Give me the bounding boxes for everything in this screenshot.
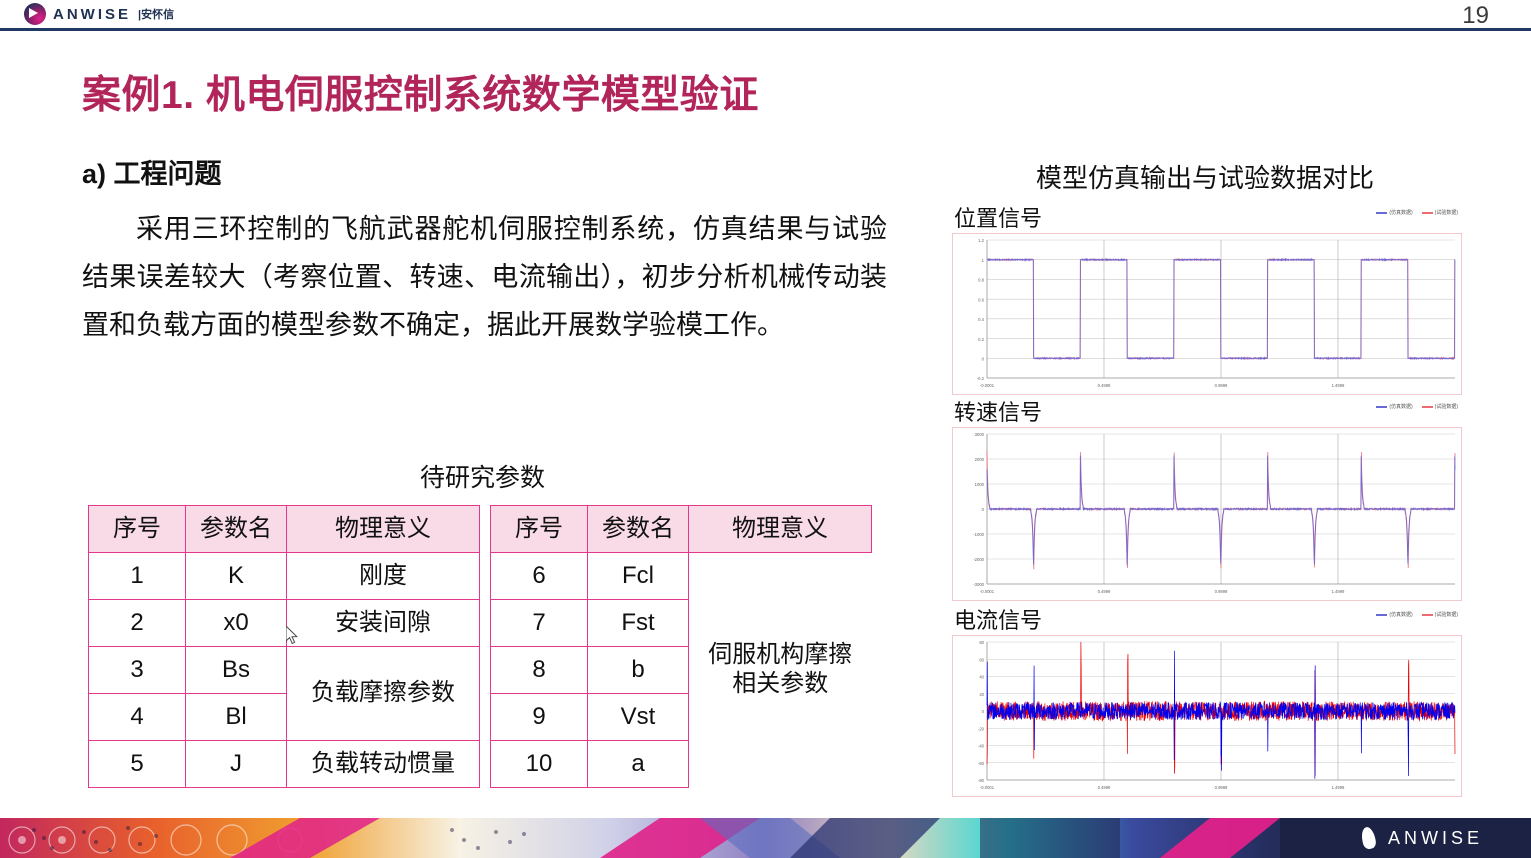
svg-text:0.9999: 0.9999 [1215,785,1228,790]
anwise-logo-icon [24,3,46,25]
svg-text:80: 80 [979,640,984,645]
chart-legend: (仿真数据) (试验数据) [1376,611,1458,618]
cell-index: 7 [491,600,588,647]
legend-item-sim: (仿真数据) [1376,403,1412,410]
table-row: 3 Bs 负载摩擦参数 [89,647,480,694]
svg-text:0.4999: 0.4999 [1098,589,1111,594]
svg-text:1: 1 [982,258,985,263]
legend-label-test: (试验数据) [1435,611,1458,618]
chart-position-signal: 位置信号 (仿真数据) (试验数据) -0.200.20.40.60.811.2… [952,206,1460,395]
legend-swatch-sim [1376,406,1387,408]
cell-param: Bl [186,694,287,741]
svg-text:0.2: 0.2 [978,337,984,342]
svg-text:0.6: 0.6 [978,298,984,303]
cell-meaning-merged: 负载摩擦参数 [287,647,480,741]
cell-index: 3 [89,647,186,694]
svg-text:0.4: 0.4 [978,317,984,322]
cell-meaning: 刚度 [287,553,480,600]
meaning-line-2: 相关参数 [732,670,828,697]
chart-axis-labels: -3000-2000-10000100020003000-0.00010.499… [973,432,1345,594]
cell-index: 2 [89,600,186,647]
chart-plot-area: -3000-2000-10000100020003000-0.00010.499… [952,427,1462,601]
chart-plot-area: -0.200.20.40.60.811.2-0.00010.49990.9999… [952,233,1462,395]
anwise-logo-chinese: |安怀信 [138,6,174,22]
cell-index: 6 [491,553,588,600]
cell-param: K [186,553,287,600]
table-header-row: 序号 参数名 物理意义 [89,506,480,553]
legend-swatch-test [1422,614,1433,616]
cell-param: Fcl [588,553,689,600]
legend-item-test: (试验数据) [1422,209,1458,216]
cell-param: b [588,647,689,694]
anwise-footer-wordmark: ANWISE [1388,828,1483,849]
svg-text:-3000: -3000 [973,582,984,587]
chart-frame: (仿真数据) (试验数据) -3000-2000-100001000200030… [952,427,1460,601]
svg-text:40: 40 [979,675,984,680]
table-header-row: 序号 参数名 物理意义 [491,506,872,553]
slide-footer: ANWISE [0,818,1531,858]
svg-text:0.4999: 0.4999 [1098,785,1111,790]
cell-param: J [186,741,287,788]
legend-item-sim: (仿真数据) [1376,209,1412,216]
svg-text:1.2: 1.2 [978,238,984,243]
header-divider [0,28,1531,31]
col-header-index: 序号 [89,506,186,553]
cell-index: 4 [89,694,186,741]
legend-swatch-test [1422,406,1433,408]
svg-text:3000: 3000 [975,432,985,437]
svg-text:-2000: -2000 [973,557,984,562]
chart-axis-labels: -0.200.20.40.60.811.2-0.00010.49990.9999… [977,238,1345,388]
cell-param: Fst [588,600,689,647]
cell-index: 10 [491,741,588,788]
col-header-meaning: 物理意义 [689,506,872,553]
svg-text:-0.0001: -0.0001 [980,383,995,388]
svg-text:2000: 2000 [975,457,985,462]
table-caption: 待研究参数 [85,458,880,494]
svg-text:20: 20 [979,692,984,697]
svg-text:-0.0001: -0.0001 [980,785,995,790]
cell-index: 8 [491,647,588,694]
section-heading-a: a) 工程问题 [82,152,222,191]
slide-header: ANWISE |安怀信 19 [0,0,1531,28]
page-number: 19 [1462,2,1489,30]
chart-legend: (仿真数据) (试验数据) [1376,209,1458,216]
chart-frame: (仿真数据) (试验数据) -0.200.20.40.60.811.2-0.00… [952,233,1460,395]
chart-series [987,259,1455,359]
anwise-footer-icon [1360,827,1379,849]
table-row: 1 K 刚度 [89,553,480,600]
svg-text:0.8: 0.8 [978,278,984,283]
svg-text:-60: -60 [978,761,985,766]
svg-text:0.9999: 0.9999 [1215,589,1228,594]
footer-logo: ANWISE [1360,827,1483,849]
legend-label-sim: (仿真数据) [1389,209,1412,216]
table-row: 2 x0 安装间隙 [89,600,480,647]
anwise-logo: ANWISE |安怀信 [24,3,174,25]
chart-legend: (仿真数据) (试验数据) [1376,403,1458,410]
svg-text:0.4999: 0.4999 [1098,383,1111,388]
anwise-logo-wordmark: ANWISE [53,6,131,23]
parameter-table-right: 序号 参数名 物理意义 6 Fcl 伺服机构摩擦 相关参数 7 Fst 8 b … [490,505,872,788]
legend-item-test: (试验数据) [1422,403,1458,410]
legend-item-sim: (仿真数据) [1376,611,1412,618]
legend-item-test: (试验数据) [1422,611,1458,618]
legend-label-sim: (仿真数据) [1389,403,1412,410]
table-row: 5 J 负载转动惯量 [89,741,480,788]
chart-frame: (仿真数据) (试验数据) -80-60-40-20020406080-0.00… [952,635,1460,797]
svg-text:1000: 1000 [975,482,985,487]
cell-param: Bs [186,647,287,694]
svg-text:-0.2: -0.2 [977,376,985,381]
svg-text:1.4999: 1.4999 [1332,785,1345,790]
cell-index: 9 [491,694,588,741]
svg-text:-80: -80 [978,778,985,783]
cell-meaning: 安装间隙 [287,600,480,647]
cell-param: Vst [588,694,689,741]
svg-text:-40: -40 [978,744,985,749]
page-title: 案例1. 机电伺服控制系统数学模型验证 [82,64,759,120]
cell-meaning: 负载转动惯量 [287,741,480,788]
svg-text:-20: -20 [978,727,985,732]
legend-swatch-sim [1376,212,1387,214]
col-header-param: 参数名 [588,506,689,553]
legend-label-test: (试验数据) [1435,209,1458,216]
charts-panel-title: 模型仿真输出与试验数据对比 [940,158,1470,195]
chart-current-signal: 电流信号 (仿真数据) (试验数据) -80-60-40-20020406080… [952,608,1460,797]
legend-swatch-test [1422,212,1433,214]
cell-meaning-merged: 伺服机构摩擦 相关参数 [689,553,872,788]
svg-text:-1000: -1000 [973,532,984,537]
table-row: 6 Fcl 伺服机构摩擦 相关参数 [491,553,872,600]
chart-plot-area: -80-60-40-20020406080-0.00010.49990.9999… [952,635,1462,797]
legend-label-sim: (仿真数据) [1389,611,1412,618]
footer-decoration [0,818,1531,858]
svg-text:1.4999: 1.4999 [1332,383,1345,388]
col-header-index: 序号 [491,506,588,553]
svg-text:60: 60 [979,658,984,663]
cell-param: a [588,741,689,788]
meaning-line-1: 伺服机构摩擦 [708,641,852,668]
parameter-table-left: 序号 参数名 物理意义 1 K 刚度 2 x0 安装间隙 3 Bs 负载摩擦参数… [88,505,480,788]
body-paragraph: 采用三环控制的飞航武器舵机伺服控制系统，仿真结果与试验结果误差较大（考察位置、转… [82,205,887,349]
cell-param: x0 [186,600,287,647]
chart-speed-signal: 转速信号 (仿真数据) (试验数据) -3000-2000-1000010002… [952,400,1460,601]
svg-text:0: 0 [982,357,985,362]
svg-text:-0.0001: -0.0001 [980,589,995,594]
svg-text:0.9999: 0.9999 [1215,383,1228,388]
col-header-meaning: 物理意义 [287,506,480,553]
cell-index: 5 [89,741,186,788]
col-header-param: 参数名 [186,506,287,553]
cell-index: 1 [89,553,186,600]
svg-text:0: 0 [982,709,985,714]
legend-label-test: (试验数据) [1435,403,1458,410]
legend-swatch-sim [1376,614,1387,616]
svg-text:0: 0 [982,507,985,512]
svg-text:1.4999: 1.4999 [1332,589,1345,594]
